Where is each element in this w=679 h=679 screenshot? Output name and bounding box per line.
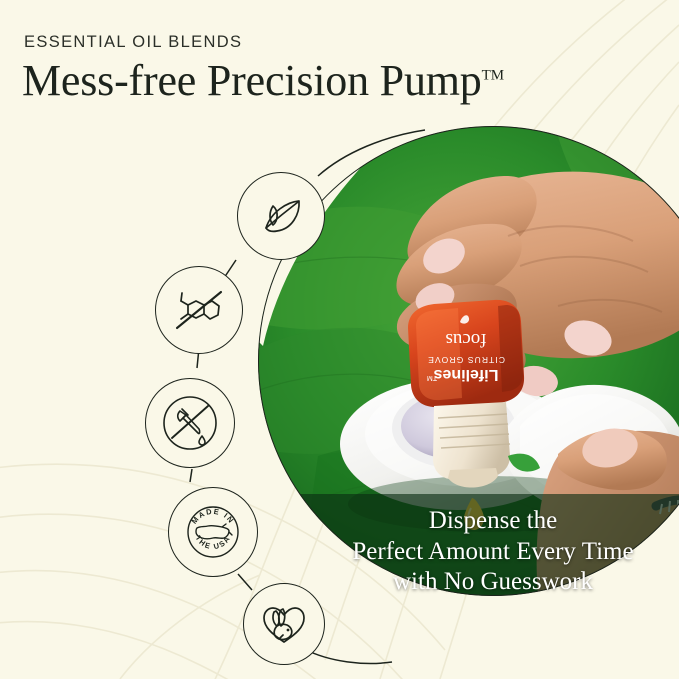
caption-line-1: Dispense the <box>258 506 679 537</box>
bottle-brand-text: Lifelines <box>433 366 498 383</box>
molecule-no-icon <box>172 283 226 337</box>
dropper-no-icon-badge[interactable] <box>145 378 235 468</box>
eyebrow-text: ESSENTIAL OIL BLENDS <box>24 33 242 52</box>
bunny-heart-icon <box>258 598 310 650</box>
bottle-benefit-text: focus <box>445 329 486 350</box>
promo-graphic: ESSENTIAL OIL BLENDS Mess-free Precision… <box>0 0 679 679</box>
bunny-heart-icon-badge[interactable] <box>243 583 325 665</box>
made-in-usa-top-text: MADE IN <box>190 507 237 526</box>
caption-line-3: with No Guesswork <box>258 567 679 598</box>
bottle-trademark-text: TM <box>427 374 437 381</box>
dropper-no-icon <box>153 386 227 460</box>
svg-text:MADE IN: MADE IN <box>190 507 237 526</box>
leaf-icon-badge[interactable] <box>237 172 325 260</box>
bottle-scent-text: CITRUS GROVE <box>427 355 505 365</box>
trademark-symbol: TM <box>482 67 505 83</box>
molecule-no-icon-badge[interactable] <box>155 266 243 354</box>
page-title: Mess-free Precision PumpTM <box>22 57 504 105</box>
made-in-usa-icon: MADE IN THE USA <box>177 496 249 568</box>
leaf-icon <box>255 190 307 242</box>
page-title-text: Mess-free Precision Pump <box>22 56 482 105</box>
made-in-usa-icon-badge[interactable]: MADE IN THE USA <box>168 487 258 577</box>
caption-line-2: Perfect Amount Every Time <box>258 537 679 568</box>
photo-caption: Dispense the Perfect Amount Every Time w… <box>258 506 679 598</box>
